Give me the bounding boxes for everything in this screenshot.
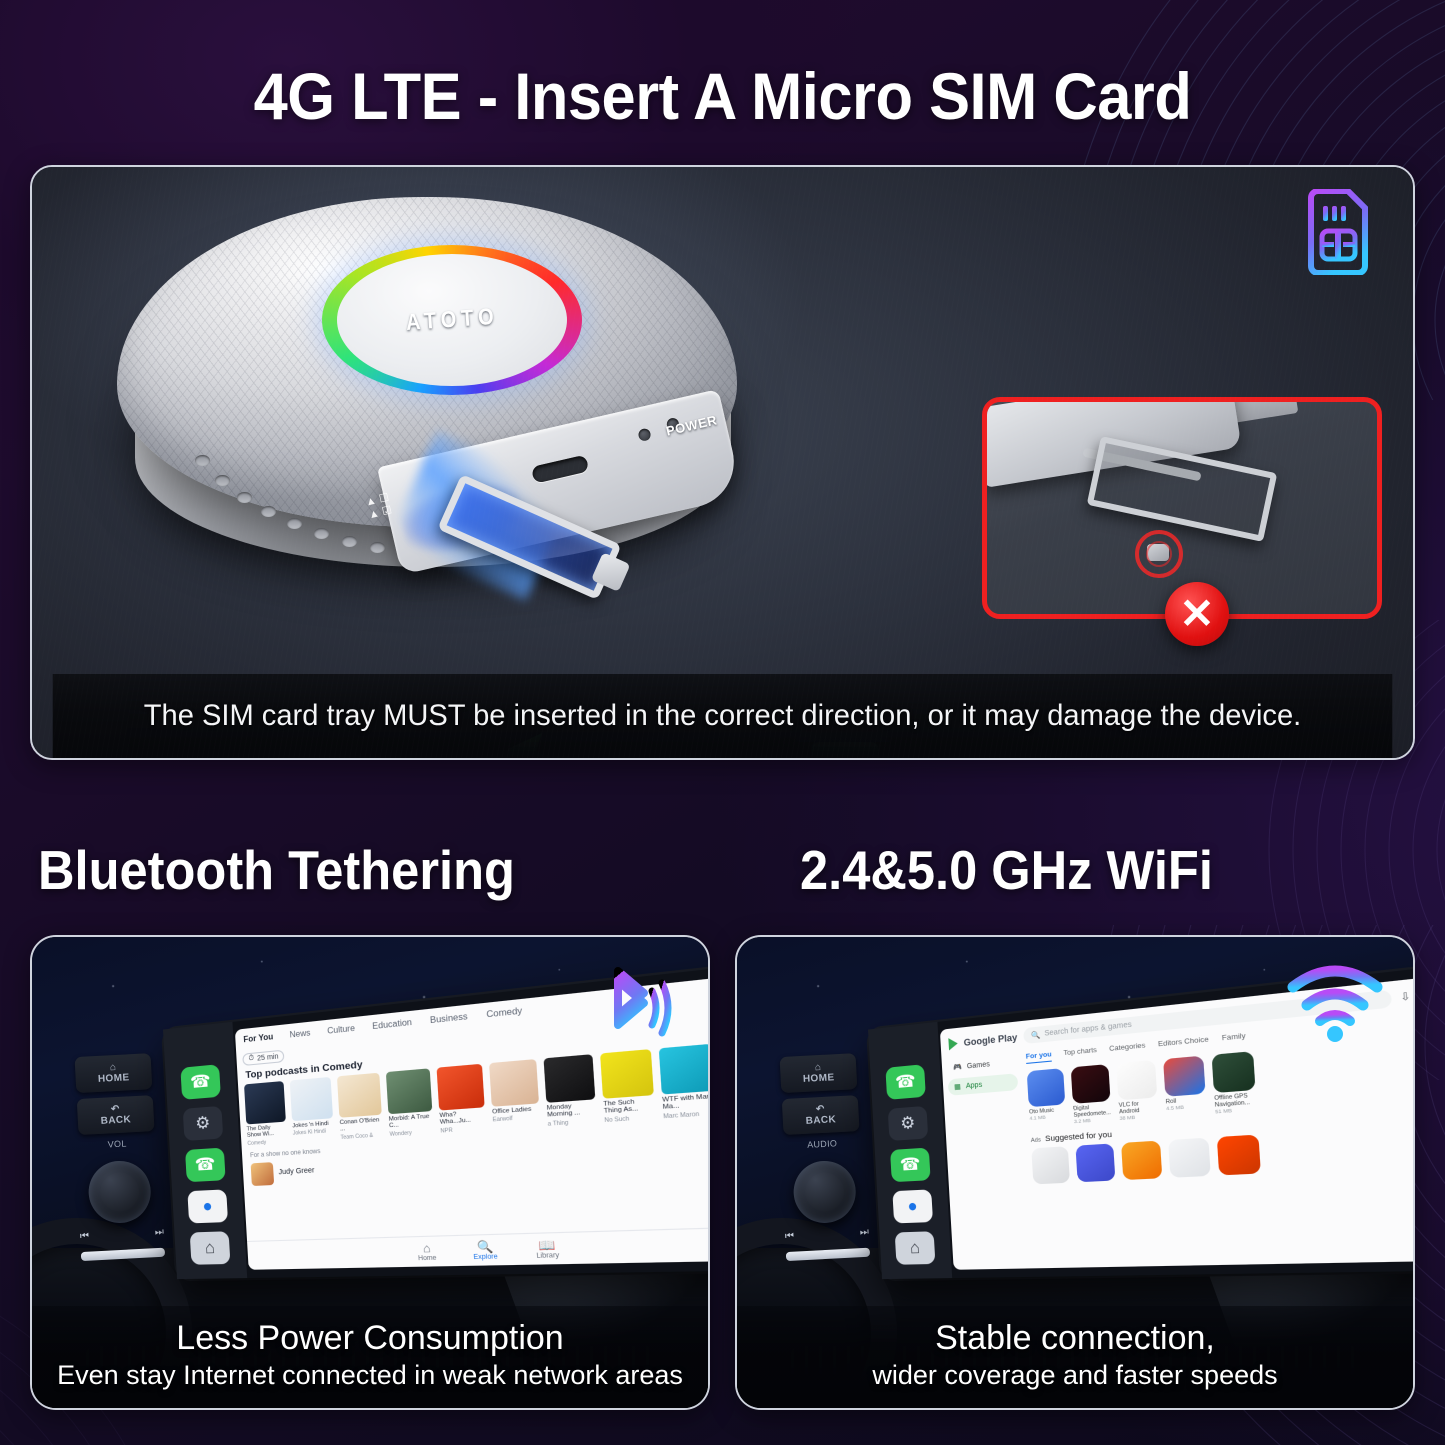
header-actions: ⇩ ↗ ● (1400, 986, 1415, 1004)
podcast-artwork (337, 1073, 382, 1118)
inset-tray-arm (1082, 448, 1201, 482)
play-store-logo-icon (948, 1037, 958, 1050)
nav-library[interactable]: 📖 Library (535, 1238, 559, 1259)
home-button[interactable]: ⌂ HOME (780, 1053, 858, 1093)
device-top-disc: ATOTO (337, 254, 567, 386)
sidebar-item-games-label: Games (967, 1061, 990, 1070)
ads-label: Ads (1031, 1137, 1041, 1144)
podcast-card[interactable]: Monday Morning ...a Thing (544, 1054, 597, 1128)
sim-warning-caption: The SIM card tray MUST be inserted in th… (53, 674, 1393, 758)
podcast-name: Monday Morning ... (547, 1102, 597, 1120)
back-button-label: BACK (100, 1114, 131, 1127)
dialer-icon[interactable]: ☎ (890, 1148, 931, 1183)
track-buttons: ⏮ ⏭ (80, 1227, 164, 1242)
app-dock-wifi: ☎ ⚙ ☎ ● ⌂ (868, 1022, 952, 1279)
vent-hole (370, 542, 385, 553)
app-card[interactable]: VLC for Android38 MB (1116, 1060, 1159, 1122)
app-name: Digital Speedomete... (1073, 1103, 1111, 1119)
green-check-icon: ✔ (811, 742, 879, 760)
games-icon: 🎮 (953, 1063, 962, 1072)
tab-top-charts[interactable]: Top charts (1063, 1047, 1097, 1061)
search-icon: 🔍 (1031, 1030, 1041, 1039)
wrong-direction-inset: ✕ (982, 397, 1382, 619)
sim-card-icon (1305, 189, 1371, 275)
back-button-label: BACK (805, 1114, 836, 1127)
host-avatar (251, 1162, 275, 1186)
podcast-tab-business[interactable]: Business (430, 1011, 468, 1025)
tray-light-streak (389, 430, 575, 601)
home-app-icon[interactable]: ⌂ (895, 1231, 936, 1265)
podcast-artwork (244, 1081, 286, 1124)
section-title-wifi: 2.4&5.0 GHz WiFi (800, 838, 1213, 902)
hardware-controls-wifi: ⌂ HOME ↶ BACK AUDIO ⏮ ⏭ (770, 1053, 877, 1268)
car-interior-scene-bluetooth: ⌂ HOME ↶ BACK VOL ⏮ ⏭ 09:39 ☎ ⚙ ☎ ● (32, 937, 708, 1408)
inset-sim-tray (1087, 436, 1278, 542)
rgb-led-ring: ATOTO (322, 245, 582, 395)
play-store-name: Google Play (963, 1032, 1017, 1048)
volume-label: VOL (69, 1137, 165, 1152)
volume-knob[interactable] (87, 1159, 152, 1224)
vent-hole (237, 492, 252, 503)
car-interior-scene-wifi: ⌂ HOME ↶ BACK AUDIO ⏮ ⏭ 09:39 ☎ ⚙ ☎ ● (737, 937, 1413, 1408)
suggested-app-icon[interactable] (1121, 1141, 1162, 1181)
nav-library-icon: 📖 (535, 1238, 559, 1252)
next-track-icon[interactable]: ⏭ (860, 1227, 870, 1238)
gear-icon[interactable]: ⚙ (183, 1106, 224, 1141)
home-button[interactable]: ⌂ HOME (75, 1053, 153, 1093)
app-card[interactable]: Digital Speedomete...3.2 MB (1071, 1064, 1112, 1125)
tray-frame (437, 474, 621, 600)
podcast-name: Wha? Wha...Ju... (439, 1110, 485, 1127)
app-dock-bluetooth: ☎ ⚙ ☎ ● ⌂ (163, 1022, 247, 1279)
home-app-icon[interactable]: ⌂ (190, 1231, 231, 1265)
app-card[interactable]: Oto Music4.1 MB (1027, 1068, 1067, 1128)
sidebar-item-games[interactable]: 🎮 Games (947, 1053, 1017, 1076)
podcast-artwork (386, 1068, 432, 1114)
app-icon (1116, 1060, 1157, 1100)
tab-family[interactable]: Family (1222, 1032, 1246, 1046)
search-placeholder: Search for apps & games (1044, 1021, 1132, 1037)
app-size: 4.1 MB (1029, 1114, 1066, 1122)
app-icon (1212, 1051, 1256, 1093)
app-name: VLC for Android (1119, 1100, 1159, 1116)
podcast-artwork (544, 1054, 596, 1103)
app-name: Offline GPS Navigation... (1214, 1092, 1256, 1109)
podcast-tab-comedy[interactable]: Comedy (486, 1006, 522, 1020)
bluetooth-caption-line2: Even stay Internet connected in weak net… (32, 1358, 708, 1392)
volume-knob[interactable] (792, 1159, 857, 1224)
audio-label: AUDIO (774, 1137, 870, 1152)
home-icon: ⌂ (110, 1062, 117, 1073)
sidebar-item-apps[interactable]: ▦ Apps (948, 1073, 1019, 1096)
podcast-card[interactable]: Jokes 'n HindiJokes Ki Hindi (290, 1077, 335, 1144)
section-title-bluetooth: Bluetooth Tethering (38, 838, 515, 902)
sidebar-item-apps-label: Apps (966, 1081, 983, 1090)
phone-icon[interactable]: ☎ (885, 1064, 925, 1100)
power-label: POWER (665, 412, 719, 438)
wifi-caption-line1: Stable connection, (737, 1318, 1413, 1358)
vent-hole (195, 455, 210, 466)
tray-tab (591, 552, 631, 592)
inset-photo (987, 402, 1377, 614)
bluetooth-tethering-panel: ⌂ HOME ↶ BACK VOL ⏮ ⏭ 09:39 ☎ ⚙ ☎ ● (30, 935, 710, 1410)
track-buttons: ⏮ ⏭ (785, 1227, 869, 1242)
usb-c-port (531, 455, 589, 484)
app-card[interactable]: Roll4.5 MB (1163, 1056, 1207, 1119)
home-button-label: HOME (803, 1072, 835, 1085)
nav-library-label: Library (536, 1252, 559, 1259)
podcast-card[interactable]: The Daily Show Wi...Comedy (244, 1081, 287, 1147)
nav-home[interactable]: ⌂ Home (417, 1242, 436, 1262)
inset-tray-pin (1147, 544, 1169, 561)
sim-slot-glow (397, 474, 528, 561)
home-icon: ⌂ (815, 1062, 822, 1073)
vent-hole (261, 506, 276, 517)
scene-light-glow (30, 165, 833, 533)
maps-icon[interactable]: ● (892, 1189, 933, 1223)
nav-explore[interactable]: 🔍 Explore (473, 1240, 498, 1261)
back-button[interactable]: ↶ BACK (782, 1095, 860, 1135)
nav-explore-icon: 🔍 (473, 1240, 498, 1254)
back-button[interactable]: ↶ BACK (77, 1095, 155, 1135)
podcast-tab-culture[interactable]: Culture (327, 1023, 355, 1035)
nav-home-icon: ⌂ (417, 1242, 436, 1256)
apps-grid-icon: ▦ (954, 1082, 961, 1091)
back-icon: ↶ (111, 1104, 120, 1115)
sim-mark-up: ▲ ☐ (364, 492, 390, 510)
suggested-app-icon[interactable] (1075, 1143, 1115, 1182)
gear-icon[interactable]: ⚙ (888, 1106, 929, 1141)
podcast-card[interactable]: The Such Thing As...No Such (600, 1049, 656, 1124)
back-icon: ↶ (816, 1104, 825, 1115)
suggested-app-icon[interactable] (1168, 1138, 1211, 1178)
device-skirt (135, 382, 731, 567)
prev-track-icon[interactable]: ⏮ (80, 1231, 90, 1242)
app-card[interactable]: Offline GPS Navigation...51 MB (1212, 1051, 1257, 1115)
home-button-label: HOME (98, 1072, 130, 1085)
inset-highlight-circle (1135, 530, 1183, 578)
maps-icon[interactable]: ● (187, 1189, 228, 1223)
power-button[interactable] (666, 417, 680, 431)
reset-button[interactable] (637, 428, 651, 442)
podcast-card[interactable]: Conan O'Brien ...Team Coco & (337, 1073, 383, 1141)
device-texture (117, 197, 737, 527)
vent-hole (215, 475, 230, 486)
wifi-caption-line2: wider coverage and faster speeds (737, 1358, 1413, 1392)
next-track-icon[interactable]: ⏭ (155, 1227, 165, 1238)
page-title: 4G LTE - Insert A Micro SIM Card (51, 58, 1395, 134)
check-mark: ✔ (823, 748, 867, 761)
nav-home-label: Home (418, 1255, 437, 1262)
podcast-name: Morbid: A True C... (389, 1113, 434, 1130)
podcast-name: Conan O'Brien ... (340, 1117, 383, 1134)
bluetooth-caption-line1: Less Power Consumption (32, 1318, 708, 1358)
podcast-artwork (600, 1049, 654, 1099)
podcast-publisher: Jokes Ki Hindi (293, 1128, 334, 1137)
green-up-arrow-icon (502, 727, 612, 760)
sim-install-panel: ATOTO POWER ▲ ☐ ▲ ☑ (30, 165, 1415, 760)
wifi-caption: Stable connection, wider coverage and fa… (737, 1306, 1413, 1408)
atoto-device: ATOTO POWER ▲ ☐ ▲ ☑ (117, 187, 757, 667)
wifi-panel: ⌂ HOME ↶ BACK AUDIO ⏮ ⏭ 09:39 ☎ ⚙ ☎ ● (735, 935, 1415, 1410)
app-icon (1027, 1068, 1066, 1107)
podcast-artwork (290, 1077, 333, 1121)
vent-hole (314, 528, 329, 539)
phone-icon[interactable]: ☎ (180, 1064, 220, 1100)
hardware-controls-bluetooth: ⌂ HOME ↶ BACK VOL ⏮ ⏭ (65, 1053, 172, 1268)
inset-device-top (1152, 402, 1299, 435)
podcast-card[interactable]: Morbid: A True C...Wondery (386, 1068, 434, 1138)
podcast-card[interactable]: Wha? Wha...Ju...NPR (437, 1064, 487, 1135)
control-strip (786, 1248, 870, 1261)
podcast-tab-for-you[interactable]: For You (243, 1032, 273, 1044)
podcast-card[interactable]: Office LadiesEarwolf (489, 1059, 541, 1131)
play-store-sidebar[interactable]: 🎮 Games ▦ Apps (941, 1049, 1034, 1270)
suggested-app-icon[interactable] (1217, 1135, 1261, 1176)
podcast-tab-education[interactable]: Education (372, 1017, 412, 1031)
duration-chip-label: 25 min (257, 1053, 279, 1062)
product-photo-scene: ATOTO POWER ▲ ☐ ▲ ☑ (32, 167, 1413, 758)
play-store-content: For you Top charts Categories Editors Ch… (1021, 1006, 1415, 1269)
nav-explore-label: Explore (473, 1253, 498, 1260)
wifi-icon (1287, 963, 1383, 1043)
podcast-artwork (437, 1064, 485, 1111)
vent-hole (287, 518, 302, 529)
podcast-name: The Such Thing As... (603, 1097, 655, 1116)
prev-track-icon[interactable]: ⏮ (785, 1231, 795, 1242)
host-name: Judy Greer (278, 1167, 314, 1176)
sim-slot-markings: ▲ ☐ ▲ ☑ (364, 492, 393, 523)
red-x-icon: ✕ (1165, 582, 1229, 646)
device-front-face: POWER (377, 389, 743, 575)
download-icon[interactable]: ⇩ (1400, 990, 1411, 1004)
suggested-app-icon[interactable] (1031, 1146, 1070, 1184)
device-body: ATOTO (117, 197, 737, 527)
sim-card-tray[interactable] (437, 474, 621, 600)
podcast-name: WTF with Marc Ma... (662, 1093, 710, 1112)
brand-logo: ATOTO (405, 304, 499, 337)
control-strip (81, 1248, 165, 1261)
tab-categories[interactable]: Categories (1109, 1042, 1146, 1056)
bluetooth-icon (588, 963, 676, 1053)
app-icon (1071, 1064, 1111, 1104)
bluetooth-caption: Less Power Consumption Even stay Interne… (32, 1306, 708, 1408)
podcast-card[interactable]: WTF with Marc Ma...Marc Maron (659, 1044, 710, 1121)
clock-icon: ⏱ (248, 1055, 254, 1064)
x-mark: ✕ (1179, 593, 1214, 635)
podcast-name: The Daily Show Wi... (246, 1124, 286, 1140)
podcast-tab-news[interactable]: News (289, 1028, 310, 1040)
app-icon (1163, 1056, 1206, 1097)
dialer-icon[interactable]: ☎ (185, 1148, 226, 1183)
podcast-artwork (489, 1059, 539, 1107)
sim-mark-down: ▲ ☑ (367, 504, 393, 522)
tab-for-you[interactable]: For you (1026, 1051, 1052, 1064)
inset-device-edge (987, 402, 1242, 488)
vent-hole (342, 536, 357, 547)
